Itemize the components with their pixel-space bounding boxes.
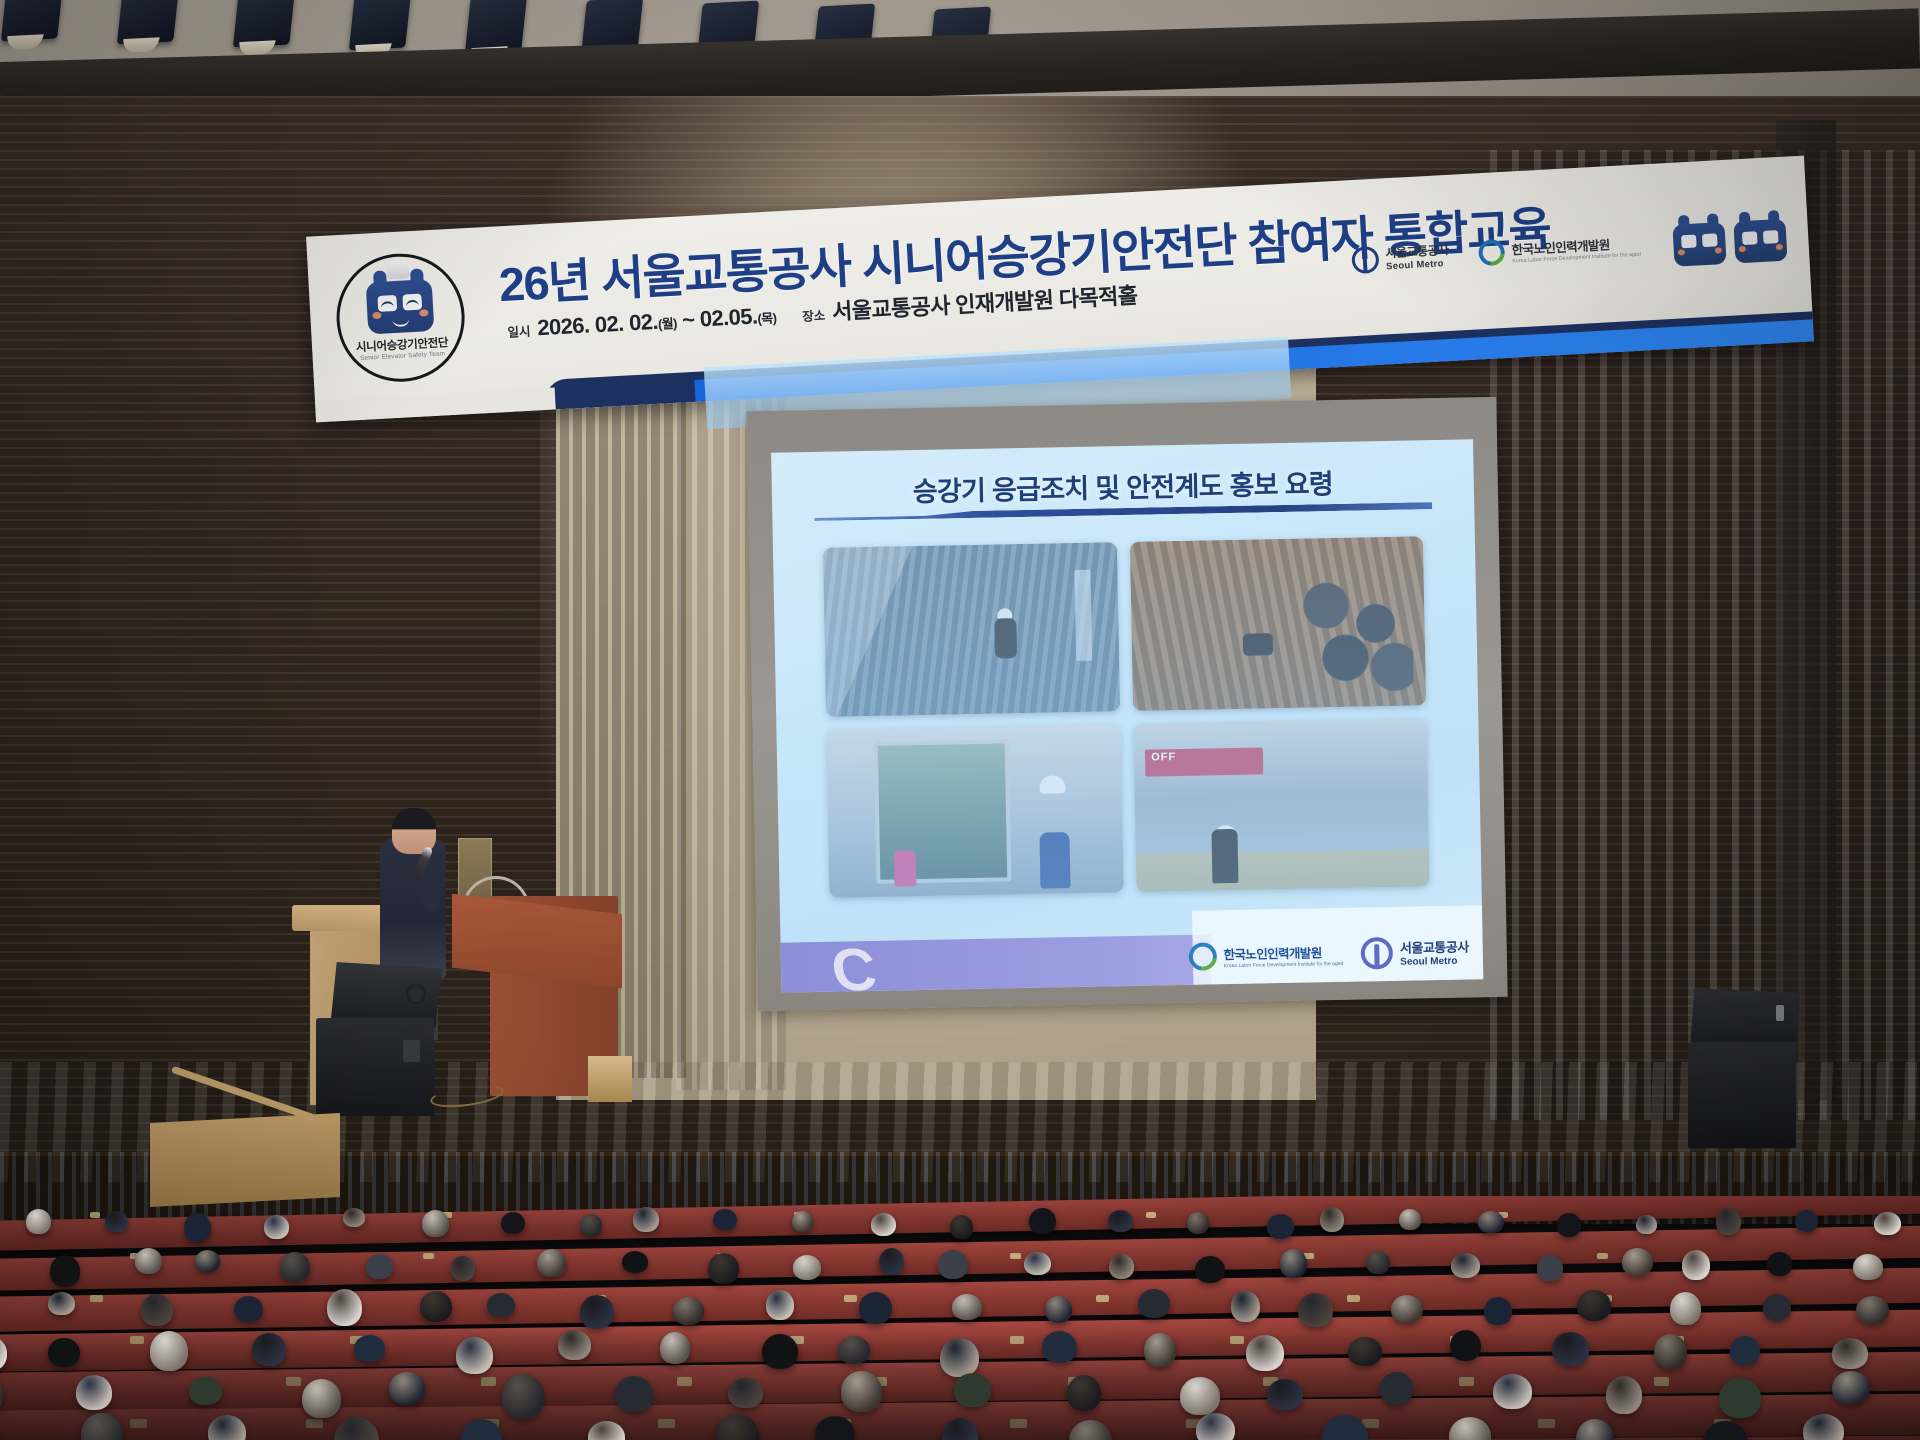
seat-number-tag — [1459, 1377, 1474, 1386]
audience-member — [615, 1376, 653, 1412]
audience-member — [838, 1336, 870, 1364]
audience-member — [1767, 1252, 1792, 1276]
audience-member — [502, 1374, 544, 1419]
audience-member — [673, 1297, 704, 1325]
slide-seoul-metro-name-kr: 서울교통공사 — [1400, 936, 1469, 956]
audience-member — [1853, 1254, 1883, 1280]
audience-member — [1478, 1211, 1504, 1233]
presentation-slide: 승강기 응급조치 및 안전계도 홍보 요령 OFF — [771, 439, 1483, 992]
audience-member — [793, 1255, 821, 1280]
audience-member — [708, 1253, 739, 1284]
slide-photo-3 — [826, 724, 1123, 898]
audience-member — [1636, 1215, 1657, 1234]
seat-number-tag — [481, 1377, 496, 1386]
seat-number-tag — [286, 1377, 301, 1386]
audience-member — [50, 1255, 80, 1287]
audience-member — [950, 1215, 973, 1239]
seat-number-tag — [130, 1336, 144, 1344]
audience-member — [1180, 1377, 1220, 1415]
slide-photo-4: OFF — [1133, 718, 1430, 892]
audience-member — [1552, 1332, 1589, 1366]
audience-member — [420, 1291, 452, 1322]
slide-photo-1 — [823, 542, 1120, 716]
audience-member — [302, 1379, 341, 1418]
stage-spotlight-icon — [233, 0, 295, 47]
audience-member — [26, 1209, 51, 1234]
stage-spotlight-icon — [349, 0, 411, 50]
audience-member — [150, 1331, 188, 1371]
klfdi-logo-icon — [1474, 234, 1511, 271]
audience-member — [1577, 1290, 1611, 1321]
audience-member — [105, 1211, 128, 1232]
seoul-metro-logo-icon — [1351, 245, 1379, 273]
slide-photo-grid: OFF — [823, 536, 1430, 897]
audience-member — [859, 1292, 892, 1324]
audience-member — [1029, 1208, 1056, 1234]
audience-member — [622, 1251, 648, 1273]
audience-member — [135, 1248, 162, 1274]
audience-member — [1391, 1295, 1423, 1323]
audience-member — [633, 1207, 659, 1232]
audience-member — [456, 1337, 493, 1374]
seat-number-tag — [1010, 1336, 1024, 1344]
audience-member — [1267, 1379, 1303, 1410]
audience-member — [537, 1249, 566, 1277]
audience-member — [1606, 1376, 1642, 1414]
audience-member — [141, 1294, 173, 1326]
audience-member — [264, 1215, 289, 1239]
slide-logo-seoul-metro: 서울교통공사 Seoul Metro — [1361, 935, 1469, 969]
audience-member — [389, 1372, 425, 1405]
mascot-cheek-left-icon — [372, 311, 381, 318]
audience-member — [1716, 1208, 1741, 1235]
audience-member — [1280, 1249, 1307, 1278]
mascot-antenna-icon — [386, 260, 409, 279]
banner-logo-seoul-metro: 서울교통공사 Seoul Metro — [1351, 241, 1450, 274]
slide-photo-2 — [1129, 536, 1426, 710]
slide-seoul-metro-name-en: Seoul Metro — [1400, 955, 1469, 967]
audience-member — [366, 1254, 393, 1279]
audience-member — [76, 1375, 112, 1410]
audience-member — [327, 1289, 362, 1326]
audience-member — [792, 1211, 813, 1232]
audience-member — [234, 1296, 263, 1322]
audience-member — [1138, 1289, 1170, 1318]
audience-member — [1493, 1374, 1532, 1409]
seat-number-tag — [1010, 1419, 1027, 1428]
audience-member — [1380, 1372, 1413, 1405]
audience-member — [1670, 1292, 1701, 1325]
seat-number-tag — [1096, 1295, 1109, 1302]
audience-member — [487, 1293, 515, 1317]
audience-member — [938, 1250, 968, 1279]
stage-right-monitor-speaker — [1690, 988, 1800, 1050]
slide-klfdi-name-kr: 한국노인인력개발원 — [1223, 941, 1343, 962]
audience-member — [1348, 1337, 1382, 1366]
banner-date-value: 2026. 02. 02.(월) ~ 02.05.(목) — [537, 302, 777, 341]
slide-seoul-metro-logo-icon — [1361, 937, 1394, 970]
audience-member — [660, 1332, 690, 1364]
audience-member — [580, 1295, 614, 1329]
banner-mascot-a-icon — [1672, 222, 1726, 267]
slide-logo-row: 한국노인인력개발원 Korea Labor Force Development … — [1188, 935, 1469, 972]
audience-member — [762, 1334, 798, 1369]
audience-member — [1045, 1296, 1072, 1323]
audience-member — [451, 1256, 475, 1281]
seat-number-tag — [1347, 1295, 1360, 1302]
audience-member — [48, 1292, 75, 1315]
stage-steps — [150, 1113, 340, 1207]
audience-member — [1537, 1255, 1563, 1281]
audience-member — [501, 1212, 525, 1234]
audience-member — [1042, 1331, 1077, 1363]
audience-member — [1108, 1210, 1133, 1232]
audience-member — [954, 1373, 991, 1407]
audience-member — [766, 1290, 794, 1320]
seat-number-tag — [677, 1377, 692, 1386]
audience-member — [1144, 1333, 1176, 1367]
audience-member — [184, 1213, 211, 1242]
audience-member — [1320, 1207, 1344, 1232]
seat-number-tag — [1597, 1253, 1608, 1259]
audience-member — [1719, 1378, 1761, 1418]
audience-member — [1622, 1248, 1653, 1276]
seat-number-tag — [130, 1419, 147, 1428]
mascot-eye-right-icon — [402, 293, 422, 310]
audience-member — [580, 1214, 602, 1237]
mascot-cheek-right-icon — [419, 309, 428, 316]
audience-member — [1109, 1254, 1134, 1279]
subwoofer-speaker — [316, 1018, 434, 1116]
audience-member — [841, 1371, 882, 1412]
audience-member — [1366, 1251, 1390, 1274]
mascot-mouth-icon — [392, 318, 409, 327]
audience-member — [280, 1252, 310, 1282]
seat-number-tag — [306, 1419, 323, 1428]
audience-member — [1067, 1375, 1101, 1411]
audience-member — [871, 1213, 896, 1236]
banner-place-label: 장소 — [802, 305, 826, 325]
stage-spotlight-icon — [1, 0, 63, 41]
slide-logo-klfdi: 한국노인인력개발원 Korea Labor Force Development … — [1188, 940, 1343, 971]
audience-member — [879, 1248, 904, 1275]
podium-side-ledge — [588, 1056, 632, 1102]
mascot-icon — [366, 278, 435, 333]
seat-number-tag — [1538, 1419, 1555, 1428]
audience-member — [1557, 1213, 1581, 1237]
audience-member — [940, 1338, 979, 1377]
audience-member — [1654, 1334, 1687, 1369]
audience-member — [343, 1208, 365, 1227]
audience-member — [1730, 1336, 1760, 1365]
audience-member — [1196, 1413, 1235, 1440]
audience-member — [713, 1209, 737, 1230]
audience-member — [728, 1378, 763, 1408]
audience-member — [1856, 1296, 1889, 1324]
stage-spotlight-icon — [465, 0, 527, 53]
audience-member — [189, 1377, 222, 1405]
audience-member — [1399, 1209, 1421, 1230]
seat-number-tag — [844, 1295, 857, 1302]
audience-member — [1450, 1330, 1481, 1361]
mascot-emblem: 시니어승강기안전단 Senior Elevator Safety Team — [333, 250, 468, 385]
audience-member — [1832, 1338, 1868, 1369]
audience-member — [1231, 1291, 1260, 1322]
audience-member — [1874, 1212, 1901, 1235]
audience-member — [354, 1335, 385, 1362]
audience-member — [1832, 1371, 1870, 1404]
seat-number-tag — [90, 1212, 100, 1218]
banner-mascot-pair — [1672, 219, 1787, 267]
banner-date-label: 일시 — [507, 321, 531, 341]
audience-member — [1024, 1252, 1051, 1275]
audience-member — [1267, 1214, 1294, 1239]
audience-member — [1187, 1212, 1209, 1234]
seat-number-tag — [1230, 1336, 1244, 1344]
audience-member — [952, 1294, 982, 1320]
audience-member — [1246, 1335, 1284, 1371]
audience-member — [1763, 1294, 1791, 1321]
audience-member — [1298, 1293, 1333, 1327]
audience-member — [558, 1330, 591, 1360]
seat-number-tag — [90, 1295, 103, 1302]
audience-member — [195, 1250, 220, 1272]
audience-member — [252, 1333, 286, 1366]
slide-footer-band — [781, 934, 1212, 992]
audience-member — [48, 1338, 80, 1367]
seat-number-tag — [658, 1419, 675, 1428]
seoul-metro-name-en: Seoul Metro — [1386, 258, 1450, 272]
audience-member — [1451, 1253, 1480, 1278]
mascot-eye-left-icon — [377, 294, 397, 311]
banner-mascot-b-icon — [1733, 219, 1787, 264]
stage-right-subwoofer — [1688, 1042, 1796, 1148]
audience-member — [1195, 1256, 1225, 1283]
seat-number-tag — [423, 1253, 434, 1259]
audience-member — [1795, 1210, 1818, 1232]
seat-number-tag — [1654, 1377, 1669, 1386]
seat-number-tag — [1010, 1253, 1021, 1259]
audience-member — [1682, 1250, 1710, 1280]
slide-klfdi-logo-icon — [1183, 937, 1222, 976]
audience-seating — [0, 1196, 1920, 1440]
seat-number-tag — [1146, 1212, 1156, 1218]
projection-screen: 승강기 응급조치 및 안전계도 홍보 요령 OFF — [746, 397, 1507, 1011]
stage-spotlight-icon — [117, 0, 179, 44]
audience-member — [422, 1210, 449, 1237]
slide-photo-4-sign: OFF — [1151, 751, 1176, 763]
auditorium-scene: 시니어승강기안전단 Senior Elevator Safety Team 26… — [0, 0, 1920, 1440]
audience-member — [1484, 1297, 1512, 1325]
